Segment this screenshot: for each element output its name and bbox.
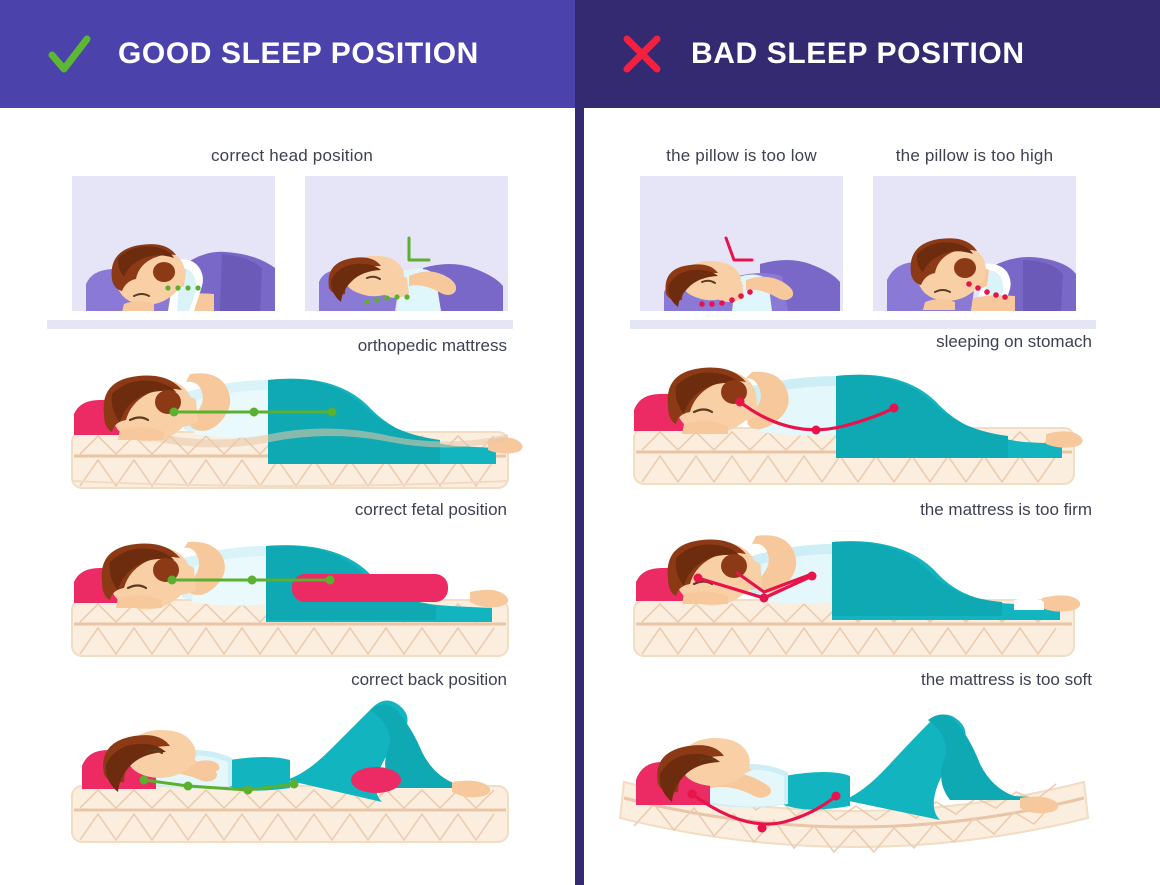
cross-icon — [619, 31, 665, 77]
scene-correct-back-position: correct back position — [0, 670, 575, 855]
infographic-page: GOOD SLEEP POSITION BAD SLEEP POSITION c… — [0, 0, 1160, 885]
scene-mattress-too-firm: the mattress is too firm — [584, 500, 1160, 665]
header-bad: BAD SLEEP POSITION — [575, 0, 1160, 108]
check-icon — [46, 31, 92, 77]
column-divider — [575, 108, 584, 885]
scene-sleeping-on-stomach: sleeping on stomach — [584, 332, 1160, 492]
good-column: correct head position — [0, 108, 575, 885]
panel-pillow-too-high — [873, 176, 1076, 311]
bad-column: the pillow is too low the pillow is too … — [584, 108, 1160, 885]
scene-correct-fetal-position: correct fetal position — [0, 500, 575, 665]
scene-mattress-too-soft: the mattress is too soft — [584, 670, 1160, 870]
panel-pillow-too-low — [640, 176, 843, 311]
bad-caption-pillow-high: the pillow is too high — [873, 146, 1076, 166]
header-good-title: GOOD SLEEP POSITION — [118, 37, 479, 71]
panel-back-sleeping-correct — [305, 176, 508, 311]
good-head-caption: correct head position — [72, 146, 512, 166]
header-good: GOOD SLEEP POSITION — [0, 0, 575, 108]
green-right-angle-marker — [409, 238, 429, 260]
bad-caption-pillow-low: the pillow is too low — [640, 146, 843, 166]
mattress-flat — [72, 786, 508, 842]
scene-orthopedic-mattress: orthopedic mattress — [0, 336, 575, 496]
bad-separator — [630, 320, 1096, 329]
red-angle-marker — [726, 238, 752, 260]
good-separator — [47, 320, 513, 329]
panel-side-sleeping-correct — [72, 176, 275, 311]
header-bad-title: BAD SLEEP POSITION — [691, 37, 1025, 71]
knee-pillow — [292, 574, 448, 602]
knee-roll — [351, 767, 401, 793]
